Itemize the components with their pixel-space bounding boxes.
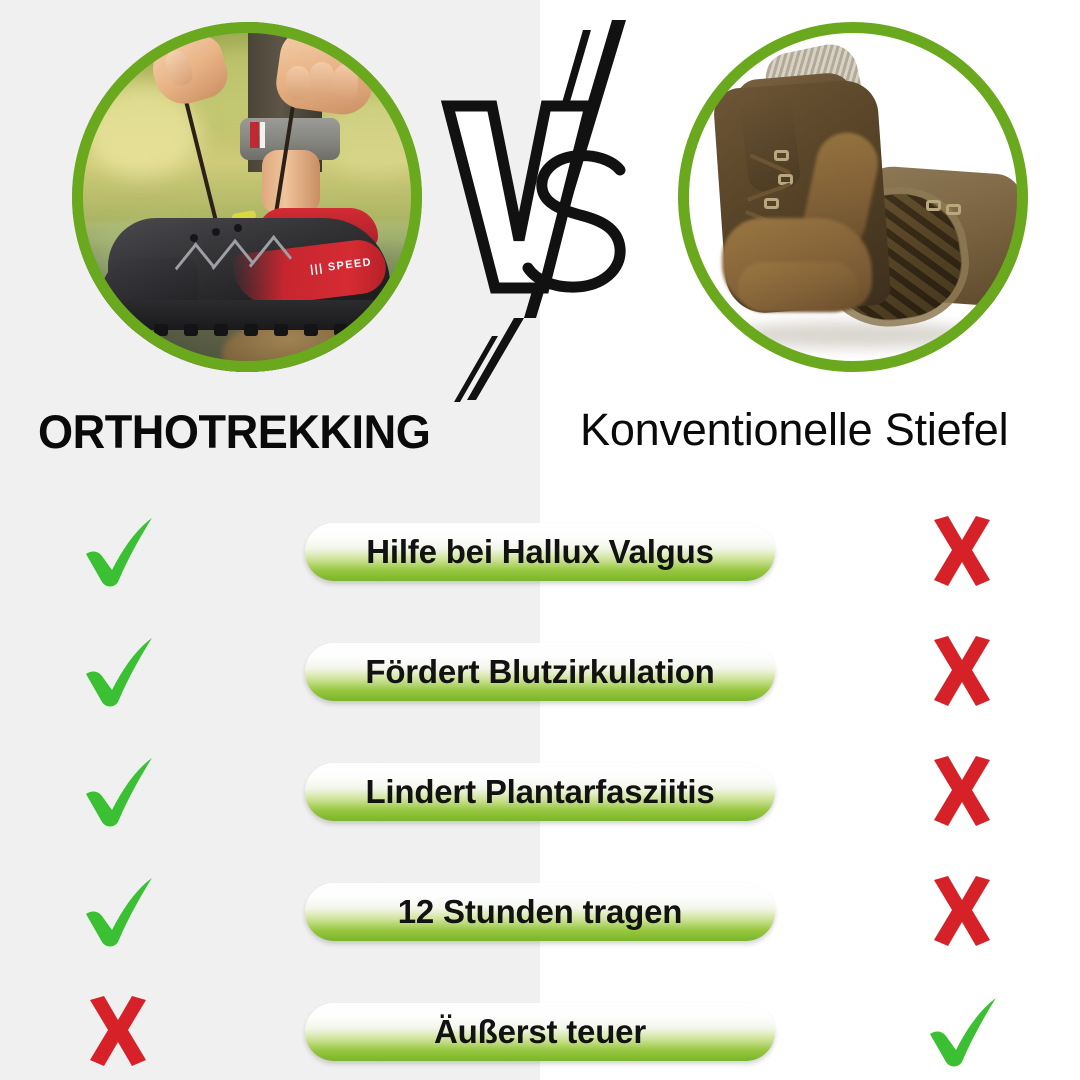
- page-title-right: Konventionelle Stiefel: [580, 404, 1008, 456]
- comparison-row: Äußerst teuer: [0, 972, 1080, 1080]
- check-icon: [72, 506, 164, 598]
- feature-pill: Fördert Blutzirkulation: [305, 643, 775, 701]
- comparison-row: Fördert Blutzirkulation: [0, 612, 1080, 732]
- vs-divider: [440, 18, 650, 408]
- comparison-row: Lindert Plantarfasziitis: [0, 732, 1080, 852]
- ring-border-left: [72, 22, 422, 372]
- cross-icon: [916, 866, 1008, 958]
- cross-icon: [916, 746, 1008, 838]
- cross-icon: [72, 986, 164, 1078]
- feature-pill: Hilfe bei Hallux Valgus: [305, 523, 775, 581]
- feature-pill-label: Lindert Plantarfasziitis: [365, 773, 714, 811]
- cross-icon: [916, 626, 1008, 718]
- ring-border-right: [678, 22, 1028, 372]
- check-icon: [72, 866, 164, 958]
- feature-pill-label: Fördert Blutzirkulation: [365, 653, 714, 691]
- comparison-infographic: ||| SPEED: [0, 0, 1080, 1080]
- feature-pill-label: Äußerst teuer: [434, 1013, 646, 1051]
- feature-pill-label: 12 Stunden tragen: [398, 893, 682, 931]
- comparison-rows: Hilfe bei Hallux ValgusFördert Blutzirku…: [0, 492, 1080, 1080]
- page-title-left: ORTHOTREKKING: [38, 404, 430, 459]
- comparison-row: 12 Stunden tragen: [0, 852, 1080, 972]
- check-icon: [72, 746, 164, 838]
- comparison-row: Hilfe bei Hallux Valgus: [0, 492, 1080, 612]
- cross-icon: [916, 506, 1008, 598]
- feature-pill-label: Hilfe bei Hallux Valgus: [366, 533, 714, 571]
- check-icon: [916, 986, 1008, 1078]
- feature-pill: Äußerst teuer: [305, 1003, 775, 1061]
- feature-pill: Lindert Plantarfasziitis: [305, 763, 775, 821]
- check-icon: [72, 626, 164, 718]
- feature-pill: 12 Stunden tragen: [305, 883, 775, 941]
